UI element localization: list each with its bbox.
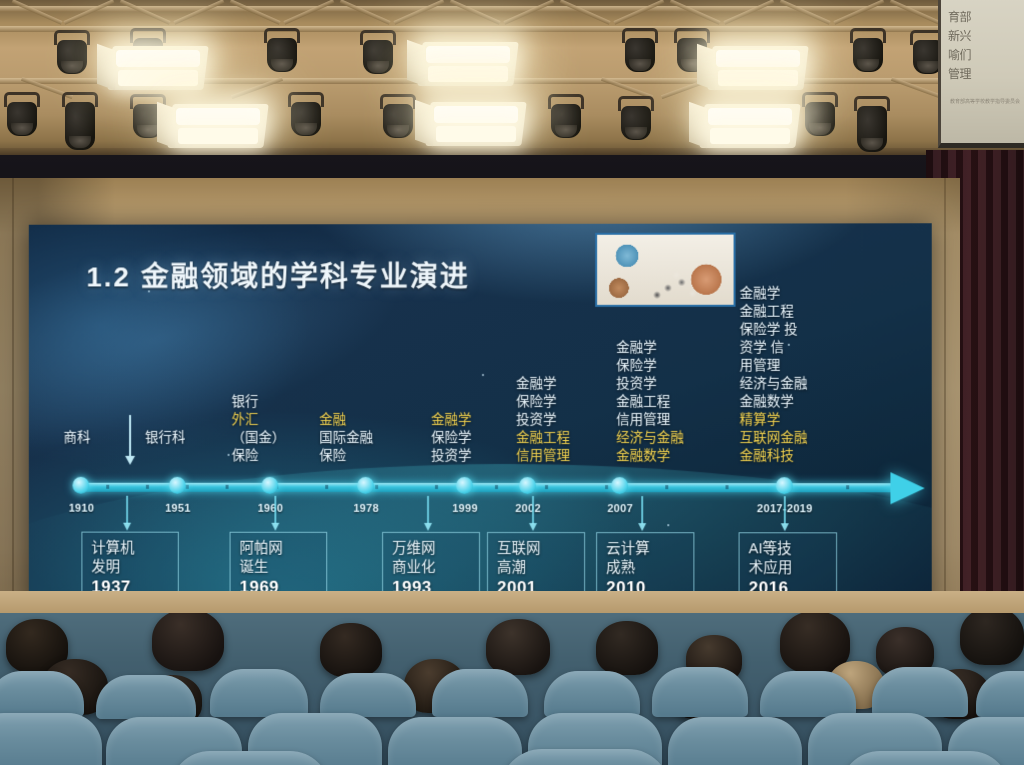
- seat: [872, 667, 968, 717]
- timeline-node-1960[interactable]: [261, 477, 278, 494]
- event-line1: 阿帕网: [240, 541, 283, 557]
- truss-brace: [284, 0, 335, 25]
- seat: [760, 671, 856, 717]
- side-screen-line: 育部: [941, 0, 1024, 27]
- audience-head: [960, 613, 1024, 665]
- seat: [320, 673, 416, 717]
- discipline-column-1951: 银行科: [145, 429, 185, 447]
- timeline-node-2002[interactable]: [519, 477, 536, 494]
- timeline-year-label: 1910: [69, 503, 94, 515]
- timeline-node-2007[interactable]: [611, 477, 628, 494]
- truss-brace: [64, 0, 115, 25]
- event-line1: 互联网: [497, 541, 541, 557]
- event-line2: 成熟: [606, 560, 635, 576]
- timeline-node-1910[interactable]: [72, 477, 89, 494]
- event-line1: 万维网: [392, 541, 435, 557]
- timeline-year-label: 2002: [515, 503, 541, 515]
- robot-go-game-photo: [595, 233, 735, 307]
- side-screen-footer: 教育部高等学校教学指导委员会: [941, 84, 1024, 105]
- event-connector: [427, 496, 429, 524]
- truss-brace: [504, 0, 555, 25]
- audience-seating: [0, 613, 1024, 765]
- truss-brace: [174, 0, 225, 25]
- truss-brace: [614, 0, 665, 25]
- stage-light-icon: [262, 28, 302, 74]
- floodlight-icon: [170, 104, 266, 148]
- timeline-arrow-icon: [890, 472, 924, 504]
- event-connector: [532, 496, 534, 524]
- discipline-column-2017-2019: 金融学 金融工程 保险学 投 资学 信 用管理 经济与金融 金融数学 精算学 互…: [740, 285, 808, 466]
- floodlight-icon: [420, 42, 516, 86]
- truss-brace: [724, 0, 775, 25]
- stage-light-icon: [848, 28, 888, 74]
- seat: [0, 671, 84, 717]
- event-line1: AI等技: [749, 541, 792, 557]
- event-line2: 术应用: [749, 560, 793, 576]
- stage-light-icon: [358, 30, 398, 76]
- truss-brace: [120, 0, 171, 25]
- event-connector: [126, 496, 128, 524]
- audience-head: [152, 613, 224, 671]
- event-line2: 高潮: [497, 560, 526, 576]
- seat: [840, 751, 1010, 765]
- event-line2: 诞生: [240, 560, 269, 576]
- seat: [500, 749, 670, 765]
- stage-light-icon: [60, 92, 100, 154]
- seat: [0, 713, 102, 765]
- discipline-column-1910: 商科: [64, 429, 91, 447]
- discipline-column-1978: 金融 国际金融 保险: [319, 411, 373, 465]
- event-line2: 商业化: [392, 560, 435, 576]
- stage-light-icon: [378, 94, 418, 140]
- event-connector: [641, 496, 643, 524]
- stage-light-icon: [2, 92, 42, 138]
- ceiling-truss-rig: [0, 0, 1024, 160]
- truss-brace: [450, 0, 501, 25]
- discipline-column-1999: 金融学 保险学 投资学: [431, 411, 471, 465]
- timeline-year-label: 1960: [258, 503, 284, 515]
- floodlight-icon: [428, 102, 524, 146]
- audience-head: [596, 621, 658, 675]
- truss-brace: [560, 0, 611, 25]
- seat: [652, 667, 748, 717]
- timeline-year-label: 2007: [607, 503, 633, 515]
- timeline-node-1999[interactable]: [456, 477, 473, 494]
- slide-title: 1.2 金融领域的学科专业演进: [86, 255, 469, 295]
- stage-light-icon: [616, 96, 656, 142]
- discipline-column-1960: 银行 外汇 （国金） 保险: [232, 393, 286, 465]
- stage-light-icon: [852, 96, 892, 156]
- stage-light-icon: [620, 28, 660, 74]
- side-screen-line: 新兴: [941, 27, 1024, 46]
- seat: [210, 669, 308, 717]
- truss-brace: [230, 0, 281, 25]
- stage-apron: [0, 591, 1024, 613]
- event-connector: [274, 496, 276, 524]
- timeline-year-label: 1999: [452, 503, 478, 515]
- timeline-year-label: 1978: [353, 503, 379, 515]
- side-screen-line: 喻们: [941, 46, 1024, 65]
- side-screen-line: 管理: [941, 65, 1024, 84]
- seat: [544, 671, 640, 717]
- seat: [668, 717, 802, 765]
- event-line2: 发明: [91, 560, 120, 576]
- truss-brace: [834, 0, 885, 25]
- discipline-column-2007: 金融学 保险学 投资学 金融工程 信用管理 经济与金融 金融数学: [616, 339, 684, 465]
- truss-brace: [670, 0, 721, 25]
- evolution-down-arrow-icon: [129, 415, 131, 457]
- presentation-slide: 1.2 金融领域的学科专业演进 商科 银行科 银行 外汇 （国金） 保险 金融 …: [29, 223, 932, 615]
- seat: [388, 717, 522, 765]
- timeline-node-1978[interactable]: [357, 477, 374, 494]
- event-line1: 云计算: [606, 541, 650, 557]
- audience-head: [320, 623, 382, 677]
- seat: [96, 675, 196, 719]
- truss-brace: [394, 0, 445, 25]
- timeline-node-2017-2019[interactable]: [776, 477, 793, 494]
- event-connector: [784, 496, 786, 524]
- stage-light-icon: [800, 92, 840, 138]
- timeline-node-1951[interactable]: [169, 477, 186, 494]
- audience-head: [486, 619, 550, 675]
- floodlight-icon: [710, 46, 806, 90]
- truss-brace: [890, 0, 941, 25]
- timeline-year-label: 1951: [165, 503, 191, 515]
- lecture-hall-photo: 育部 新兴 喻们 管理 教育部高等学校教学指导委员会 1.2 金融领域的学科专业…: [0, 0, 1024, 765]
- truss-brace: [340, 0, 391, 25]
- stage-light-icon: [546, 94, 586, 140]
- timeline-axis: [76, 483, 894, 492]
- seat: [432, 669, 528, 717]
- stage-light-icon: [286, 92, 326, 138]
- discipline-column-2002: 金融学 保险学 投资学 金融工程 信用管理: [516, 375, 570, 465]
- stage-light-icon: [52, 30, 92, 76]
- truss-brace: [12, 0, 63, 25]
- floodlight-icon: [702, 104, 798, 148]
- event-line1: 计算机: [91, 541, 134, 557]
- floodlight-icon: [110, 46, 206, 90]
- truss-brace: [780, 0, 831, 25]
- secondary-projection-screen: 育部 新兴 喻们 管理 教育部高等学校教学指导委员会: [938, 0, 1024, 148]
